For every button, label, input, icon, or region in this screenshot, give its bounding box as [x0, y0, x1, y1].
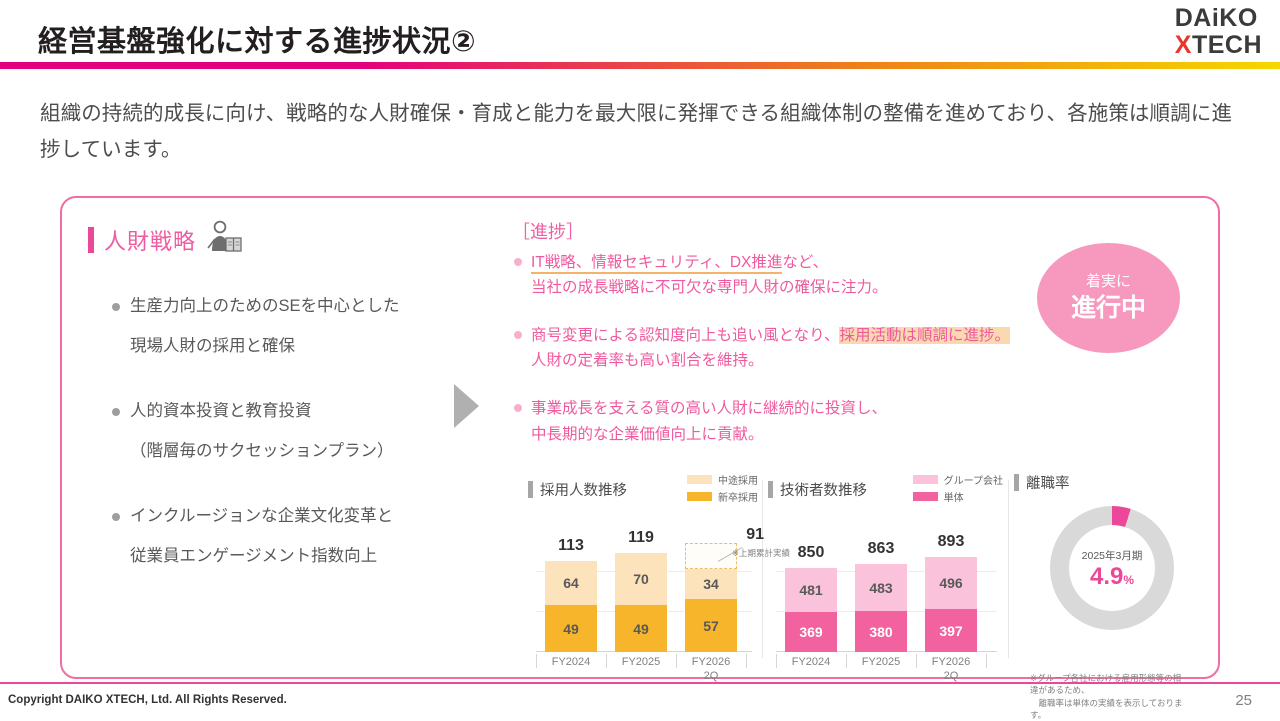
donut-period-label: 2025年3月期	[1082, 548, 1143, 563]
bullet-line-2: 現場人財の採用と確保	[130, 334, 487, 360]
bar-value-label: 57	[703, 618, 719, 634]
progress-line-2: 人財の定着率も高い割合を維持。	[531, 352, 764, 369]
axis-tick	[536, 654, 537, 668]
human-resource-strategy-header: 人財戦略	[88, 220, 244, 259]
x-axis-label-line1: FY2026	[685, 656, 737, 670]
chart-recruitment-trend: 採用人数推移 中途採用 新卒採用 113 64 49	[528, 472, 758, 506]
bar-segment-newgrad: 49	[545, 605, 597, 652]
bar-segment-group: 481	[785, 568, 837, 612]
logo-xtech-text: XTECH	[1175, 33, 1262, 58]
x-axis-label-line1: FY2024	[785, 656, 837, 670]
donut-value-number: 4.9	[1090, 563, 1123, 590]
bar-group: 893 496 397 FY2026 2Q	[925, 557, 977, 652]
bar-segment-standalone: 397	[925, 609, 977, 652]
donut-footnote-line2: 離職率は単体の実績を表示しております。	[1030, 697, 1188, 721]
legend-swatch	[687, 492, 712, 501]
bar-total-label: 113	[545, 537, 597, 555]
bar-group: 34 57 FY2026 2Q	[685, 543, 737, 652]
logo-daiko-text: DAiKO	[1175, 6, 1262, 31]
bullet-dot-icon	[112, 303, 120, 311]
bar-total-label: 893	[925, 533, 977, 551]
chart-turnover-rate: 離職率 2025年3月期 4.9% ※グループ各社における雇用形態等の相違がある…	[1014, 472, 1210, 493]
logo-x-mark: X	[1175, 31, 1192, 59]
progress-list: IT戦略、情報セキュリティ、DX推進など、 当社の成長戦略に不可欠な専門人財の確…	[514, 250, 1019, 470]
progress-underlined-text: IT戦略、情報セキュリティ、DX推進	[531, 254, 782, 274]
list-item: 商号変更による認知度向上も追い風となり、採用活動は順調に進捗。 人財の定着率も高…	[514, 323, 1019, 373]
bullet-dot-icon	[514, 258, 522, 266]
progress-line-1: 商号変更による認知度向上も追い風となり、	[531, 327, 839, 344]
annotation-value: 91	[746, 526, 764, 544]
donut-footnote-line1: ※グループ各社における雇用形態等の相違があるため、	[1030, 672, 1188, 697]
legend-label: 新卒採用	[718, 489, 758, 504]
bar-value-label: 49	[633, 621, 649, 637]
bar-group: 113 64 49 FY2024	[545, 561, 597, 652]
chart-title: 離職率	[1026, 472, 1070, 493]
axis-tick	[916, 654, 917, 668]
legend-label: 中途採用	[718, 472, 758, 487]
progress-heading: ［進捗］	[512, 218, 584, 244]
bullet-dot-icon	[112, 408, 120, 416]
list-item: 生産力向上のためのSEを中心とした 現場人財の採用と確保	[112, 294, 487, 359]
copyright-text: Copyright DAIKO XTECH, Ltd. All Rights R…	[8, 694, 287, 706]
axis-tick	[776, 654, 777, 668]
section-accent-bar	[88, 227, 94, 253]
daiko-xtech-logo: DAiKO XTECH	[1175, 6, 1262, 58]
x-axis-label-line1: FY2026	[925, 656, 977, 670]
bar-value-label: 397	[939, 623, 962, 639]
chart-divider	[762, 480, 763, 658]
legend-label: 単体	[944, 489, 964, 504]
bar-value-label: 380	[869, 624, 892, 640]
progress-line-1: 事業成長を支える質の高い人財に継続的に投資し、	[531, 400, 887, 417]
x-axis-label: FY2025	[855, 656, 907, 670]
bar-value-label: 481	[799, 582, 822, 598]
bar-value-label: 483	[869, 580, 892, 596]
bar-value-label: 64	[563, 575, 579, 591]
x-axis-label: FY2026 2Q	[685, 656, 737, 684]
bar-value-label: 70	[633, 571, 649, 587]
bar-segment-newgrad: 57	[685, 599, 737, 652]
legend-swatch	[913, 492, 938, 501]
axis-tick	[986, 654, 987, 668]
x-axis-label-line1: FY2025	[855, 656, 907, 670]
x-axis-label-line1: FY2024	[545, 656, 597, 670]
progress-highlighted-text: 採用活動は順調に進捗。	[839, 327, 1010, 344]
chart-plot-area: 113 64 49 FY2024 119 70 49 FY2025	[528, 516, 758, 674]
bar-value-label: 369	[799, 624, 822, 640]
axis-tick	[846, 654, 847, 668]
chart-engineer-count-trend: 技術者数推移 グループ会社 単体 850 481 369	[768, 472, 1003, 506]
content-panel: 人財戦略 生産力向上のためのSEを中心とした 現場人財の採用と確保	[60, 196, 1220, 679]
bar-segment-standalone: 380	[855, 611, 907, 652]
bar-value-label: 496	[939, 575, 962, 591]
bar-group: 119 70 49 FY2025	[615, 553, 667, 652]
axis-tick	[606, 654, 607, 668]
status-badge-small-text: 着実に	[1086, 274, 1131, 291]
bar-segment-standalone: 369	[785, 612, 837, 652]
bullet-line-2: （階層毎のサクセッションプラン）	[130, 439, 487, 465]
chart-divider	[1008, 480, 1009, 658]
logo-tech-text: TECH	[1192, 31, 1262, 59]
bar-segment-group: 496	[925, 557, 977, 609]
bar-group: 850 481 369 FY2024	[785, 568, 837, 652]
bullet-line-1: 生産力向上のためのSEを中心とした	[130, 294, 400, 320]
x-axis-label: FY2026 2Q	[925, 656, 977, 684]
x-axis-label: FY2024	[785, 656, 837, 670]
axis-tick	[676, 654, 677, 668]
x-axis-label-line1: FY2025	[615, 656, 667, 670]
bar-segment-midcareer: 34	[685, 569, 737, 599]
person-presenter-icon	[204, 220, 244, 259]
bullet-line-1: 人的資本投資と教育投資	[130, 399, 312, 425]
donut-chart: 2025年3月期 4.9% ※グループ各社における雇用形態等の相違があるため、 …	[1028, 506, 1188, 634]
legend-label: グループ会社	[944, 472, 1003, 487]
bar-segment-midcareer: 70	[615, 553, 667, 605]
chart-accent-bar	[528, 481, 533, 498]
chart-title: 技術者数推移	[780, 479, 867, 500]
footer-rule	[0, 682, 1280, 684]
chart-legend: グループ会社 単体	[913, 472, 1003, 506]
legend-swatch	[687, 475, 712, 484]
legend-swatch	[913, 475, 938, 484]
list-item: IT戦略、情報セキュリティ、DX推進など、 当社の成長戦略に不可欠な専門人財の確…	[514, 250, 1019, 300]
progress-line-1-rest: など、	[782, 254, 828, 271]
donut-center: 2025年3月期 4.9%	[1069, 525, 1155, 611]
bar-total-label: 863	[855, 540, 907, 558]
axis-tick	[746, 654, 747, 668]
title-gradient-rule	[0, 62, 1280, 69]
bar-segment-newgrad: 49	[615, 605, 667, 652]
donut-footnote: ※グループ各社における雇用形態等の相違があるため、 離職率は単体の実績を表示して…	[1030, 672, 1188, 721]
bar-total-label: 119	[615, 529, 667, 547]
chart-legend: 中途採用 新卒採用	[687, 472, 758, 506]
bar-total-label: 850	[785, 544, 837, 562]
lead-paragraph: 組織の持続的成長に向け、戦略的な人財確保・育成と能力を最大限に発揮できる組織体制…	[40, 96, 1245, 168]
bar-segment-midcareer: 64	[545, 561, 597, 605]
donut-ring: 2025年3月期 4.9%	[1050, 506, 1174, 630]
bar-segment-group: 483	[855, 564, 907, 611]
bar-group: 863 483 380 FY2025	[855, 564, 907, 652]
donut-value: 4.9%	[1090, 565, 1134, 589]
x-axis-label: FY2024	[545, 656, 597, 670]
donut-value-unit: %	[1123, 573, 1134, 587]
chart-accent-bar	[1014, 474, 1019, 491]
chart-plot-area: 850 481 369 FY2024 863 483 380 FY2025	[768, 516, 1003, 674]
bar-value-label: 34	[703, 576, 719, 592]
charts-row: 採用人数推移 中途採用 新卒採用 113 64 49	[62, 472, 1222, 677]
chart-title: 採用人数推移	[540, 479, 627, 500]
bullet-dot-icon	[514, 404, 522, 412]
chart-accent-bar	[768, 481, 773, 498]
list-item: 事業成長を支える質の高い人財に継続的に投資し、 中長期的な企業価値向上に貢献。	[514, 396, 1019, 446]
progress-line-2: 当社の成長戦略に不可欠な専門人財の確保に注力。	[531, 279, 888, 296]
progress-line-2: 中長期的な企業価値向上に貢献。	[531, 426, 764, 443]
bullet-dot-icon	[514, 331, 522, 339]
right-arrow-icon	[454, 384, 479, 428]
list-item: 人的資本投資と教育投資 （階層毎のサクセッションプラン）	[112, 399, 487, 464]
page-title: 経営基盤強化に対する進捗状況②	[38, 18, 476, 60]
x-axis-label: FY2025	[615, 656, 667, 670]
status-badge-main-text: 進行中	[1071, 295, 1146, 323]
section-title: 人財戦略	[104, 224, 196, 256]
status-badge: 着実に 進行中	[1037, 243, 1180, 353]
bar-value-label: 49	[563, 621, 579, 637]
bar-segment-projection	[685, 543, 737, 569]
page-number: 25	[1235, 692, 1252, 709]
